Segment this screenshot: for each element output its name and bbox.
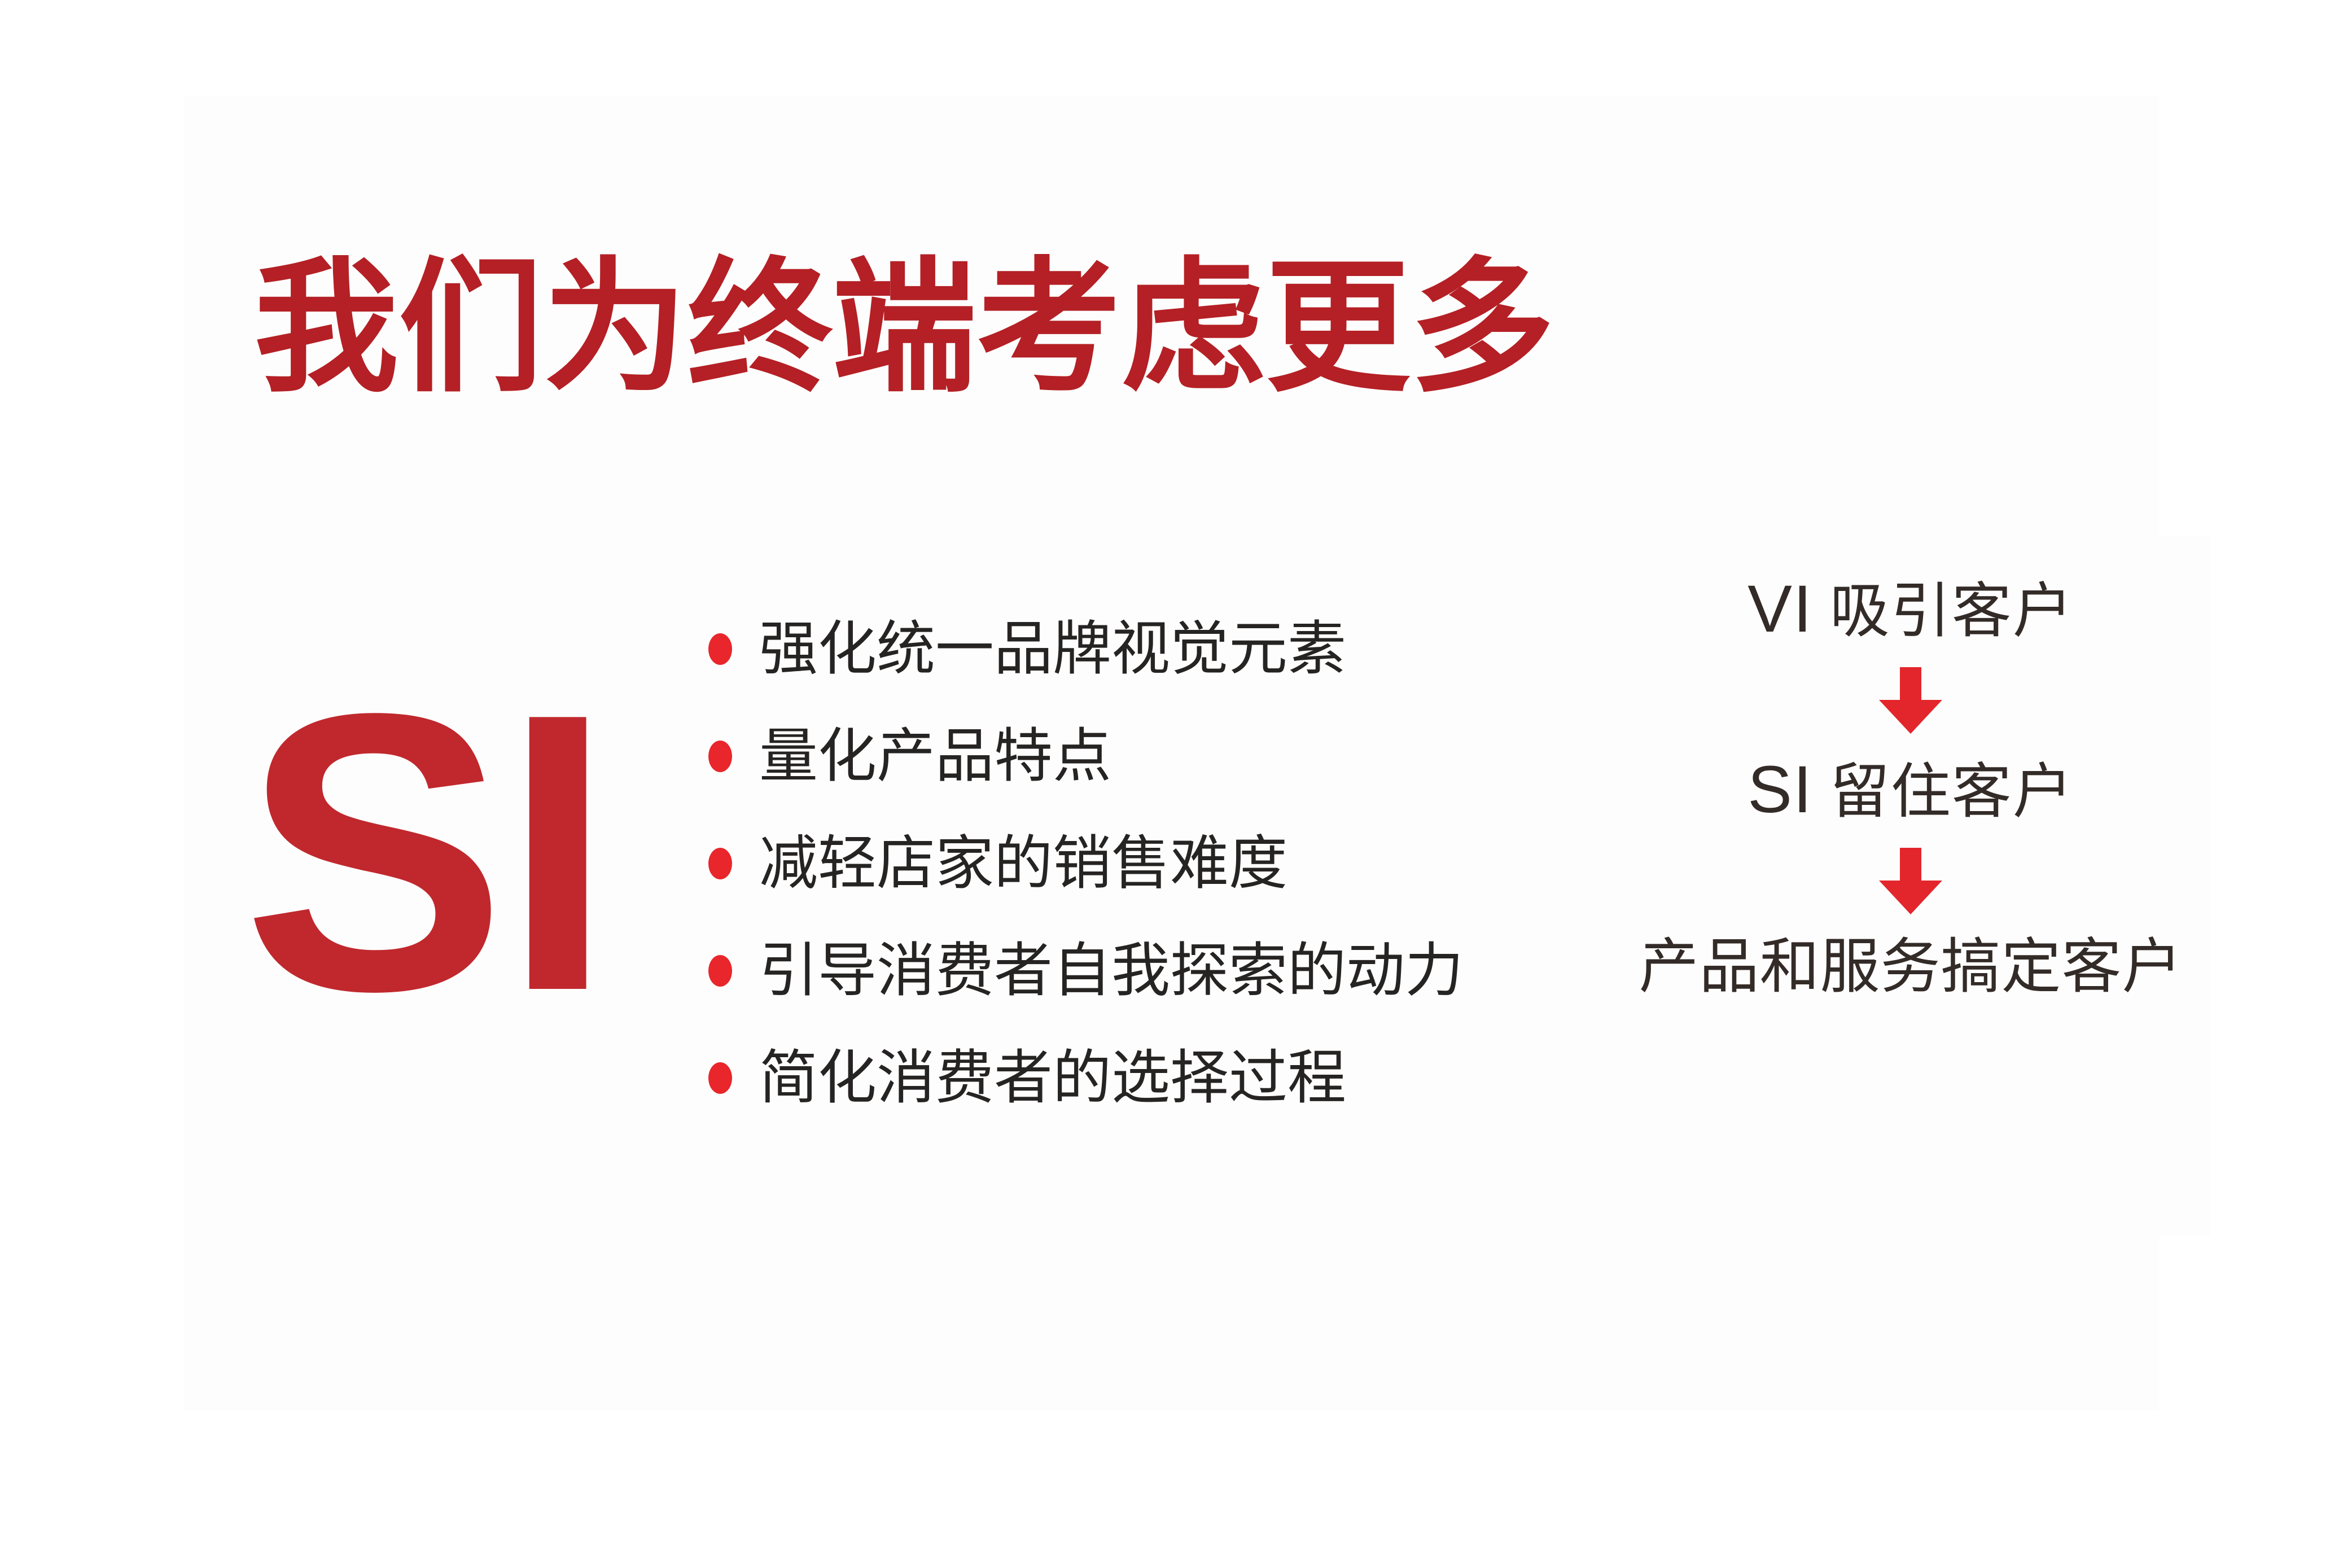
flow-step-label: 吸引客户 xyxy=(1830,581,2074,641)
flow-step-vi: VI 吸引客户 xyxy=(1747,576,2074,642)
bullet-label: 简化消费者的选择过程 xyxy=(759,1046,1346,1110)
bullet-dot-icon xyxy=(708,1062,732,1094)
list-item: 减轻店家的销售难度 xyxy=(708,810,1589,917)
bullet-label: 量化产品特点 xyxy=(759,724,1111,789)
page-title: 我们为终端考虑更多 xyxy=(254,243,1554,413)
flow-step-outcome: 产品和服务搞定客户 xyxy=(1639,937,2183,997)
flow-step-label: 产品和服务搞定客户 xyxy=(1639,937,2183,997)
slide-canvas: 我们为终端考虑更多 SI 强化统一品牌视觉元素 量化产品特点 减轻店家的销售难度… xyxy=(0,0,2352,1568)
list-item: 简化消费者的选择过程 xyxy=(708,1024,1589,1132)
bullet-dot-icon xyxy=(708,633,732,665)
benefit-bullet-list: 强化统一品牌视觉元素 量化产品特点 减轻店家的销售难度 引导消费者自我探索的动力… xyxy=(708,595,1589,1132)
list-item: 引导消费者自我探索的动力 xyxy=(708,917,1589,1024)
customer-journey-flow: VI 吸引客户 SI 留住客户 产品和服务搞定客户 xyxy=(1611,576,2210,997)
bullet-label: 强化统一品牌视觉元素 xyxy=(759,617,1346,681)
bullet-dot-icon xyxy=(708,955,732,987)
bullet-dot-icon xyxy=(708,848,732,879)
bullet-label: 引导消费者自我探索的动力 xyxy=(759,939,1464,1003)
si-logo-mark: SI xyxy=(243,655,609,1050)
list-item: 量化产品特点 xyxy=(708,703,1589,810)
arrow-down-icon xyxy=(1877,848,1944,914)
list-item: 强化统一品牌视觉元素 xyxy=(708,595,1589,703)
flow-step-abbr: VI xyxy=(1747,576,1813,642)
flow-step-label: 留住客户 xyxy=(1830,762,2074,822)
flow-step-si: SI 留住客户 xyxy=(1747,756,2074,823)
arrow-down-icon xyxy=(1877,667,1944,734)
bullet-label: 减轻店家的销售难度 xyxy=(759,831,1287,896)
bullet-dot-icon xyxy=(708,741,732,772)
flow-step-abbr: SI xyxy=(1747,756,1813,823)
